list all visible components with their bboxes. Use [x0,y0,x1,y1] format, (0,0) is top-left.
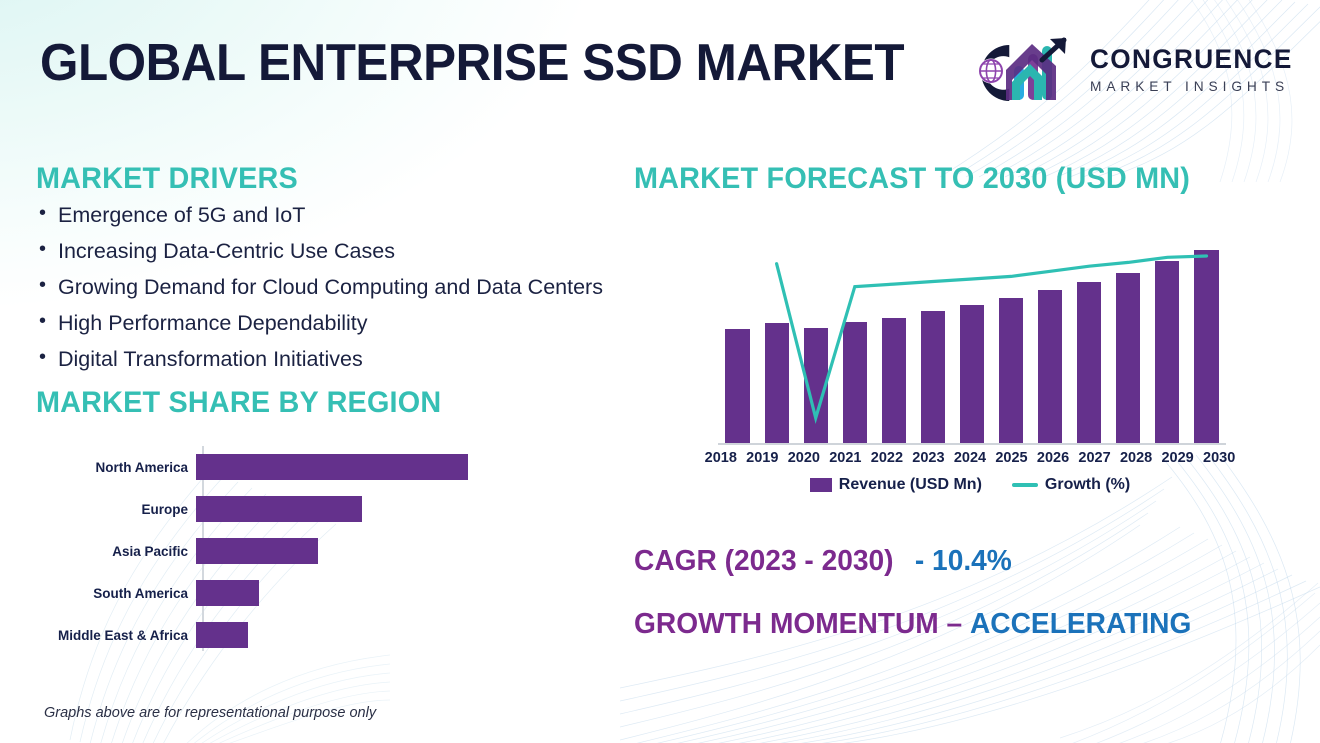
cagr-label: CAGR (2023 - 2030) [634,545,894,577]
cagr-value: - 10.4% [915,545,1012,577]
growth-momentum-stat: GROWTH MOMENTUM – ACCELERATING [634,608,1191,641]
cagr-stat: CAGR (2023 - 2030)- 10.4% [634,545,1012,578]
footnote: Graphs above are for representational pu… [44,705,376,721]
region-bar [196,622,248,648]
momentum-value: ACCELERATING [970,608,1191,640]
list-item: Growing Demand for Cloud Computing and D… [36,277,776,299]
logo-tagline: MARKET INSIGHTS [1090,79,1295,93]
market-drivers-list: Emergence of 5G and IoT Increasing Data-… [36,205,776,385]
legend-label: Growth (%) [1045,476,1130,494]
growth-line [700,228,1240,446]
legend-item-revenue: Revenue (USD Mn) [810,476,982,494]
year-label: 2021 [825,450,867,466]
legend-label: Revenue (USD Mn) [839,476,982,494]
brand-logo: CONGRUENCE MARKET INSIGHTS [962,36,1299,102]
year-label: 2022 [866,450,908,466]
year-label: 2025 [991,450,1033,466]
year-label: 2030 [1198,450,1240,466]
region-label: North America [40,460,196,475]
region-row: North America [40,454,500,480]
year-label: 2019 [742,450,784,466]
region-bar [196,496,362,522]
region-row: South America [40,580,500,606]
market-share-heading: MARKET SHARE BY REGION [36,386,441,420]
momentum-label: GROWTH MOMENTUM – [634,608,962,640]
market-share-bar-chart: North America Europe Asia Pacific South … [40,446,500,651]
swirl-corner-icon [1060,573,1320,743]
legend-item-growth: Growth (%) [1012,476,1130,494]
year-label: 2020 [783,450,825,466]
year-label: 2027 [1074,450,1116,466]
page-title: GLOBAL ENTERPRISE SSD MARKET [40,36,904,91]
year-label: 2028 [1115,450,1157,466]
year-label: 2029 [1157,450,1199,466]
market-forecast-heading: MARKET FORECAST TO 2030 (USD MN) [634,162,1190,196]
region-label: Europe [40,502,196,517]
region-bar [196,538,318,564]
market-drivers-heading: MARKET DRIVERS [36,162,298,196]
list-item: Digital Transformation Initiatives [36,349,776,371]
region-row: Asia Pacific [40,538,500,564]
infographic-canvas: GLOBAL ENTERPRISE SSD MARKET [0,0,1320,743]
year-label: 2024 [949,450,991,466]
forecast-legend: Revenue (USD Mn) Growth (%) [700,476,1240,494]
year-label: 2023 [908,450,950,466]
logo-mark-icon [962,36,1080,102]
region-bar [196,454,468,480]
region-label: Asia Pacific [40,544,196,559]
forecast-year-axis: 2018201920202021202220232024202520262027… [700,450,1240,466]
logo-name: CONGRUENCE [1090,46,1293,73]
region-row: Europe [40,496,500,522]
year-label: 2026 [1032,450,1074,466]
legend-swatch-icon [810,478,832,492]
list-item: Increasing Data-Centric Use Cases [36,241,776,263]
region-label: South America [40,586,196,601]
region-bar [196,580,259,606]
list-item: High Performance Dependability [36,313,776,335]
market-forecast-chart: 2018201920202021202220232024202520262027… [700,228,1240,518]
list-item: Emergence of 5G and IoT [36,205,776,227]
year-label: 2018 [700,450,742,466]
legend-line-icon [1012,483,1038,487]
region-label: Middle East & Africa [40,628,196,643]
region-row: Middle East & Africa [40,622,500,648]
